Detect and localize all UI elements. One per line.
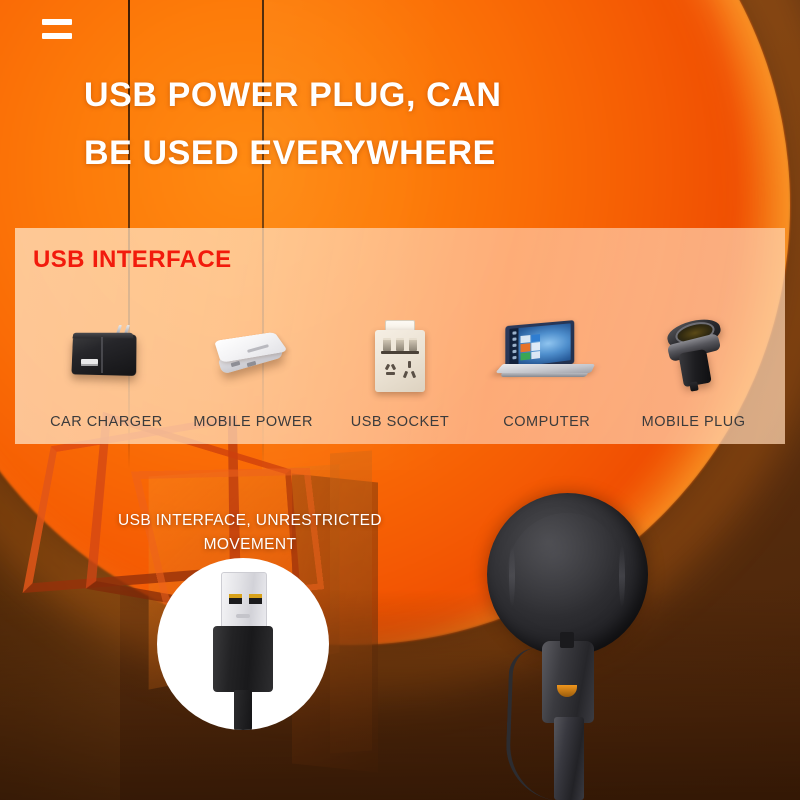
laptop-keyboard-base bbox=[495, 364, 595, 373]
socket-outlet-two-pin bbox=[383, 360, 398, 382]
menu-icon[interactable] bbox=[42, 19, 72, 39]
lamp-power-cord bbox=[504, 647, 565, 800]
usb-contact-right bbox=[249, 594, 262, 604]
list-item: USB SOCKET bbox=[327, 280, 474, 430]
compatible-devices-list: CAR CHARGER MOBILE POWER bbox=[33, 280, 767, 430]
feature-caption-line-2: MOVEMENT bbox=[100, 533, 400, 557]
device-art bbox=[33, 304, 180, 408]
charger-body bbox=[72, 334, 137, 375]
list-item: MOBILE PLUG bbox=[620, 280, 767, 430]
page-title-line-2: BE USED EVERYWHERE bbox=[84, 124, 502, 182]
sunset-projector-lamp bbox=[487, 493, 747, 800]
laptop-start-tiles bbox=[520, 334, 540, 360]
list-item: MOBILE POWER bbox=[180, 280, 327, 430]
usb-contact-left bbox=[229, 594, 242, 604]
laptop-front-edge bbox=[500, 373, 588, 377]
power-bank-icon bbox=[213, 325, 293, 387]
usb-connector-closeup bbox=[157, 558, 329, 730]
socket-divider bbox=[381, 351, 419, 354]
power-bank-port-b bbox=[247, 361, 257, 367]
page-title: USB POWER PLUG, CAN BE USED EVERYWHERE bbox=[84, 66, 502, 182]
usb-interface-heading: USB INTERFACE bbox=[33, 246, 232, 274]
page-title-line-1: USB POWER PLUG, CAN bbox=[84, 66, 502, 124]
feature-caption-line-1: USB INTERFACE, UNRESTRICTED bbox=[100, 509, 400, 533]
list-item: COMPUTER bbox=[473, 280, 620, 430]
laptop-icon bbox=[499, 323, 595, 389]
wall-charger-icon bbox=[68, 325, 144, 387]
device-label: USB SOCKET bbox=[351, 414, 449, 430]
lamp-globe-ridge-left bbox=[509, 545, 515, 607]
device-label: MOBILE POWER bbox=[193, 414, 313, 430]
charger-usb-port bbox=[81, 359, 98, 366]
socket-outlet-three-pin bbox=[402, 360, 417, 382]
car-charger-icon bbox=[663, 319, 725, 393]
car-charger-tip bbox=[689, 381, 698, 391]
device-art bbox=[620, 304, 767, 408]
device-label: CAR CHARGER bbox=[50, 414, 163, 430]
device-label: MOBILE PLUG bbox=[642, 414, 746, 430]
device-label: COMPUTER bbox=[503, 414, 590, 430]
device-art bbox=[180, 304, 327, 408]
socket-usb-ports bbox=[383, 338, 417, 349]
socket-ac-outlets bbox=[381, 358, 419, 384]
usb-notch bbox=[236, 614, 250, 618]
feature-caption: USB INTERFACE, UNRESTRICTED MOVEMENT bbox=[100, 509, 400, 557]
product-banner: USB POWER PLUG, CAN BE USED EVERYWHERE U… bbox=[0, 0, 800, 800]
laptop-screen bbox=[509, 323, 570, 368]
menu-icon-bar-bottom bbox=[42, 33, 72, 39]
charger-top-face bbox=[73, 333, 134, 339]
menu-icon-bar-top bbox=[42, 19, 72, 25]
wall-socket-icon bbox=[375, 320, 425, 392]
usb-plastic-shell bbox=[213, 626, 273, 692]
laptop-taskbar bbox=[509, 328, 518, 368]
usb-interface-panel: USB INTERFACE CAR CHARGER bbox=[15, 228, 785, 444]
device-art bbox=[473, 304, 620, 408]
list-item: CAR CHARGER bbox=[33, 280, 180, 430]
device-art bbox=[327, 304, 474, 408]
usb-a-connector-icon bbox=[207, 572, 279, 730]
lamp-globe-ridge-right bbox=[619, 545, 625, 607]
usb-cable-wire bbox=[234, 690, 252, 730]
